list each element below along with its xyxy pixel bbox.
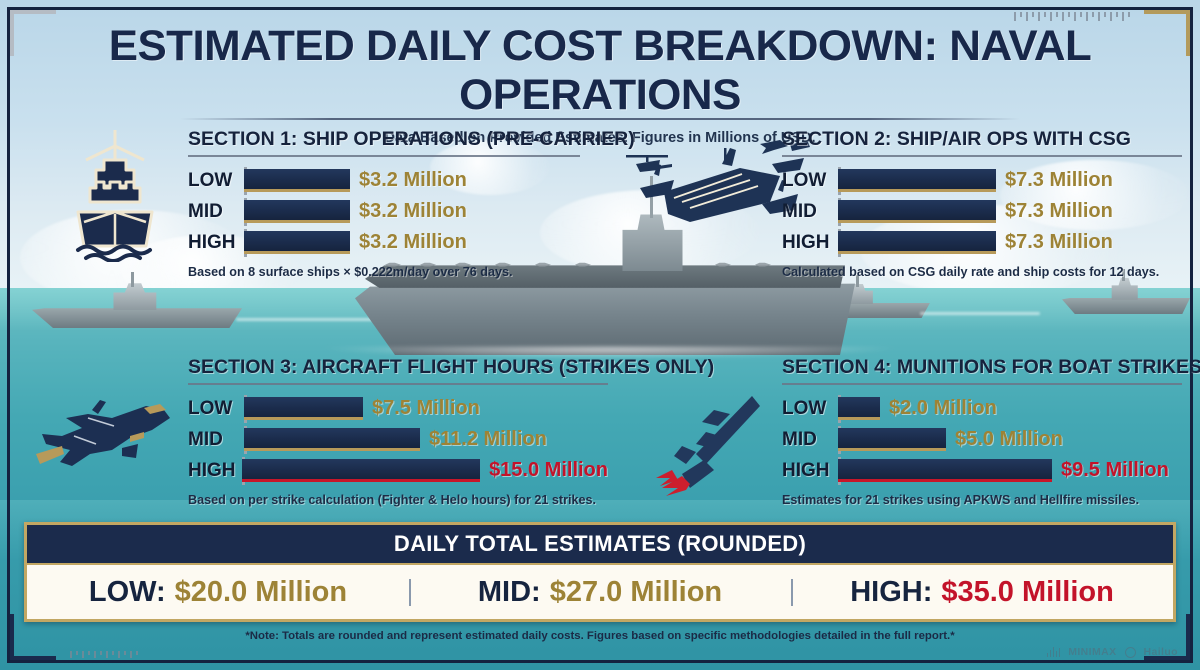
bar-row-label: HIGH [188,460,242,482]
section-note: Calculated based on CSG daily rate and s… [782,265,1182,279]
bar-row[interactable]: HIGH $7.3 Million [782,227,1182,258]
bar-value-label: $3.2 Million [359,231,467,254]
totals-heading-text: DAILY TOTAL ESTIMATES (ROUNDED) [394,531,806,557]
bar-row[interactable]: HIGH $9.5 Million [782,455,1182,486]
section-4: SECTION 4: MUNITIONS FOR BOAT STRIKES LO… [782,356,1182,507]
bar-value-label: $3.2 Million [359,169,467,192]
bar-row[interactable]: MID $5.0 Million [782,424,1182,455]
watermark-bars-icon [1047,647,1061,657]
bar-row-label: HIGH [782,232,838,254]
total-value: $27.0 Million [550,576,722,609]
section-title: SECTION 4: MUNITIONS FOR BOAT STRIKES [782,356,1182,379]
bar-track: $3.2 Million [244,231,467,255]
totals-body: LOW: $20.0 Million MID: $27.0 Million HI… [27,565,1173,620]
tick-marks-bottom-left [70,651,138,658]
bar-track: $5.0 Million [838,428,1063,452]
bar-value-label: $2.0 Million [889,397,997,420]
section-title: SECTION 3: AIRCRAFT FLIGHT HOURS (STRIKE… [188,356,608,379]
bar-track: $11.2 Million [244,428,547,452]
totals-heading-bar: DAILY TOTAL ESTIMATES (ROUNDED) [27,525,1173,565]
bar-value-label: $15.0 Million [489,459,608,482]
bar-value-label: $11.2 Million [429,428,547,451]
bar-value-label: $7.3 Million [1005,169,1113,192]
watermark: MINIMAX Hailuo [1047,646,1178,658]
bar-row-label: MID [188,201,244,223]
section-bars: LOW $7.5 Million MID $11.2 Million HIGH … [188,393,608,486]
bar-fill [838,428,946,451]
bar-row[interactable]: LOW $7.3 Million [782,165,1182,196]
section-note: Based on 8 surface ships × $0.222m/day o… [188,265,580,279]
bar-row-label: LOW [782,170,838,192]
total-cell-mid: MID: $27.0 Million [409,576,791,609]
bar-row[interactable]: MID $3.2 Million [188,196,580,227]
section-note: Based on per strike calculation (Fighter… [188,493,608,507]
daily-totals-panel: DAILY TOTAL ESTIMATES (ROUNDED) LOW: $20… [24,522,1176,622]
bar-fill [244,200,350,223]
bar-track: $3.2 Million [244,169,467,193]
bar-fill [244,428,420,451]
watermark-brand: MINIMAX [1068,646,1116,658]
total-value: $20.0 Million [175,576,347,609]
bar-row[interactable]: LOW $3.2 Million [188,165,580,196]
bar-row[interactable]: MID $11.2 Million [188,424,608,455]
section-2: SECTION 2: SHIP/AIR OPS WITH CSG LOW $7.… [782,128,1182,279]
section-bars: LOW $3.2 Million MID $3.2 Million HIGH $… [188,165,580,258]
bar-row-label: MID [782,429,838,451]
bar-track: $7.3 Million [838,169,1113,193]
bar-fill [838,397,880,420]
page-title: ESTIMATED DAILY COST BREAKDOWN: NAVAL OP… [0,22,1200,120]
bar-value-label: $7.5 Million [372,397,480,420]
bar-value-label: $5.0 Million [955,428,1063,451]
bar-row-label: MID [188,429,244,451]
section-title: SECTION 1: SHIP OPERATIONS (PRE-CARRIER) [188,128,580,151]
bar-row-label: LOW [188,398,244,420]
bar-value-label: $3.2 Million [359,200,467,223]
bar-fill [838,200,996,223]
bar-fill [838,169,996,192]
bar-value-label: $7.3 Million [1005,231,1113,254]
total-key: HIGH: [850,576,932,609]
footnote: *Note: Totals are rounded and represent … [0,630,1200,642]
warship-icon [56,126,174,262]
bar-track: $9.5 Million [838,459,1169,483]
total-key: LOW: [89,576,166,609]
bar-value-label: $7.3 Million [1005,200,1113,223]
section-bars: LOW $2.0 Million MID $5.0 Million HIGH $… [782,393,1182,486]
bar-row-label: MID [782,201,838,223]
total-cell-low: LOW: $20.0 Million [27,576,409,609]
bar-row[interactable]: HIGH $3.2 Million [188,227,580,258]
section-divider [782,383,1182,385]
bar-track: $2.0 Million [838,397,997,421]
bar-track: $7.3 Million [838,231,1113,255]
section-1: SECTION 1: SHIP OPERATIONS (PRE-CARRIER)… [188,128,580,279]
watermark-product: Hailuo [1144,646,1179,658]
bar-fill [838,459,1052,482]
destroyer-ship [32,276,242,328]
ship-wake [920,312,1040,315]
bar-row-label: LOW [188,170,244,192]
bar-row[interactable]: MID $7.3 Million [782,196,1182,227]
section-divider [782,155,1182,157]
watermark-logo-icon [1125,647,1136,658]
bar-value-label: $9.5 Million [1061,459,1169,482]
bar-row[interactable]: LOW $2.0 Million [782,393,1182,424]
bar-track: $15.0 Million [242,459,608,483]
section-3: SECTION 3: AIRCRAFT FLIGHT HOURS (STRIKE… [188,356,608,507]
total-cell-high: HIGH: $35.0 Million [791,576,1173,609]
bar-row-label: LOW [782,398,838,420]
section-title: SECTION 2: SHIP/AIR OPS WITH CSG [782,128,1182,151]
section-divider [188,155,580,157]
fighter-jet-icon [26,392,178,496]
bar-fill [838,231,996,254]
bar-row-label: HIGH [782,460,838,482]
missile-icon [656,392,774,496]
total-value: $35.0 Million [941,576,1113,609]
bar-track: $7.5 Million [244,397,480,421]
bar-fill [244,397,363,420]
bar-track: $3.2 Million [244,200,467,224]
section-note: Estimates for 21 strikes using APKWS and… [782,493,1182,507]
tick-marks-top-right [1014,12,1130,21]
bar-row[interactable]: LOW $7.5 Million [188,393,608,424]
header-divider [180,118,1020,120]
bar-fill [244,231,350,254]
bar-row-label: HIGH [188,232,244,254]
section-bars: LOW $7.3 Million MID $7.3 Million HIGH $… [782,165,1182,258]
section-divider [188,383,608,385]
bar-track: $7.3 Million [838,200,1113,224]
bar-row[interactable]: HIGH $15.0 Million [188,455,608,486]
bar-fill [242,459,480,482]
bar-fill [244,169,350,192]
total-key: MID: [478,576,541,609]
